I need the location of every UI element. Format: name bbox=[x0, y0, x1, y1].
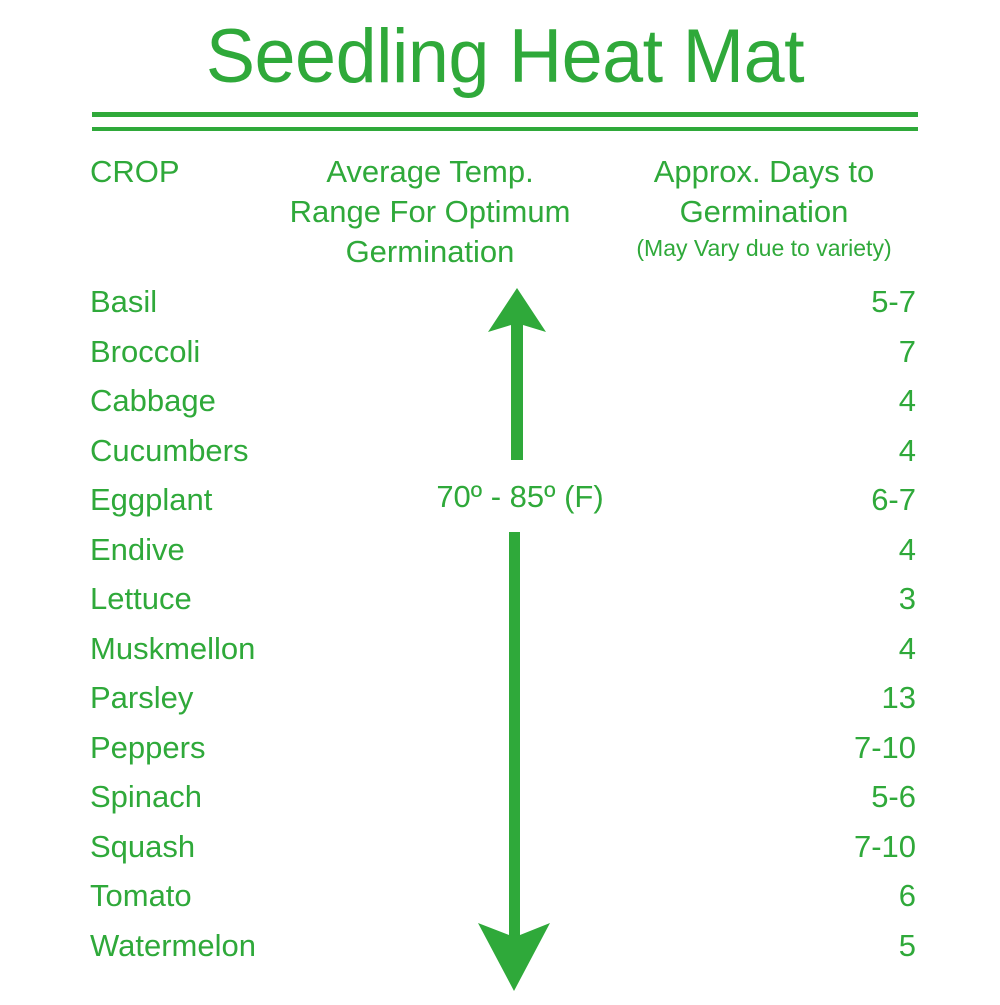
title-double-underline bbox=[92, 112, 918, 131]
days-to-germination: 7-10 bbox=[700, 729, 916, 767]
days-to-germination: 13 bbox=[700, 679, 916, 717]
title-underline-gap bbox=[92, 117, 918, 127]
crop-name: Endive bbox=[90, 531, 185, 569]
table-row: Basil 5-7 bbox=[0, 283, 1000, 333]
days-to-germination: 5-6 bbox=[700, 778, 916, 816]
crop-name: Lettuce bbox=[90, 580, 192, 618]
crop-name: Cabbage bbox=[90, 382, 216, 420]
days-to-germination: 4 bbox=[700, 531, 916, 569]
table-row: Spinach 5-6 bbox=[0, 778, 1000, 828]
days-to-germination: 4 bbox=[700, 382, 916, 420]
title-underline-lower bbox=[92, 127, 918, 131]
crop-name: Cucumbers bbox=[90, 432, 249, 470]
crop-table: Basil 5-7 Broccoli 7 Cabbage 4 Cucumbers… bbox=[0, 283, 1000, 976]
crop-name: Spinach bbox=[90, 778, 202, 816]
table-row: Peppers 7-10 bbox=[0, 729, 1000, 779]
table-row: Cabbage 4 bbox=[0, 382, 1000, 432]
table-row: Broccoli 7 bbox=[0, 333, 1000, 383]
temperature-range-value: 70º - 85º (F) bbox=[360, 478, 680, 516]
crop-name: Basil bbox=[90, 283, 157, 321]
crop-name: Broccoli bbox=[90, 333, 200, 371]
column-header-days: Approx. Days to Germination (May Vary du… bbox=[610, 152, 918, 264]
crop-name: Tomato bbox=[90, 877, 192, 915]
table-row: Cucumbers 4 bbox=[0, 432, 1000, 482]
table-row: Lettuce 3 bbox=[0, 580, 1000, 630]
table-row: Muskmellon 4 bbox=[0, 630, 1000, 680]
seedling-heat-mat-chart: Seedling Heat Mat CROP Average Temp. Ran… bbox=[0, 0, 1000, 1000]
days-to-germination: 6-7 bbox=[700, 481, 916, 519]
days-to-germination: 6 bbox=[700, 877, 916, 915]
column-header-days-note: (May Vary due to variety) bbox=[610, 232, 918, 264]
crop-name: Parsley bbox=[90, 679, 193, 717]
days-to-germination: 7-10 bbox=[700, 828, 916, 866]
table-row: Endive 4 bbox=[0, 531, 1000, 581]
table-row: Watermelon 5 bbox=[0, 927, 1000, 977]
days-to-germination: 7 bbox=[700, 333, 916, 371]
days-to-germination: 4 bbox=[700, 630, 916, 668]
crop-name: Squash bbox=[90, 828, 195, 866]
table-row: Parsley 13 bbox=[0, 679, 1000, 729]
crop-name: Peppers bbox=[90, 729, 205, 767]
column-header-temperature: Average Temp. Range For Optimum Germinat… bbox=[280, 152, 580, 272]
column-header-days-main: Approx. Days to Germination bbox=[654, 154, 875, 229]
crop-name: Muskmellon bbox=[90, 630, 255, 668]
days-to-germination: 3 bbox=[700, 580, 916, 618]
days-to-germination: 5 bbox=[700, 927, 916, 965]
crop-name: Watermelon bbox=[90, 927, 256, 965]
crop-name: Eggplant bbox=[90, 481, 212, 519]
days-to-germination: 4 bbox=[700, 432, 916, 470]
table-row: Tomato 6 bbox=[0, 877, 1000, 927]
page-title: Seedling Heat Mat bbox=[102, 14, 907, 100]
column-header-crop: CROP bbox=[90, 152, 180, 192]
days-to-germination: 5-7 bbox=[700, 283, 916, 321]
table-row: Squash 7-10 bbox=[0, 828, 1000, 878]
